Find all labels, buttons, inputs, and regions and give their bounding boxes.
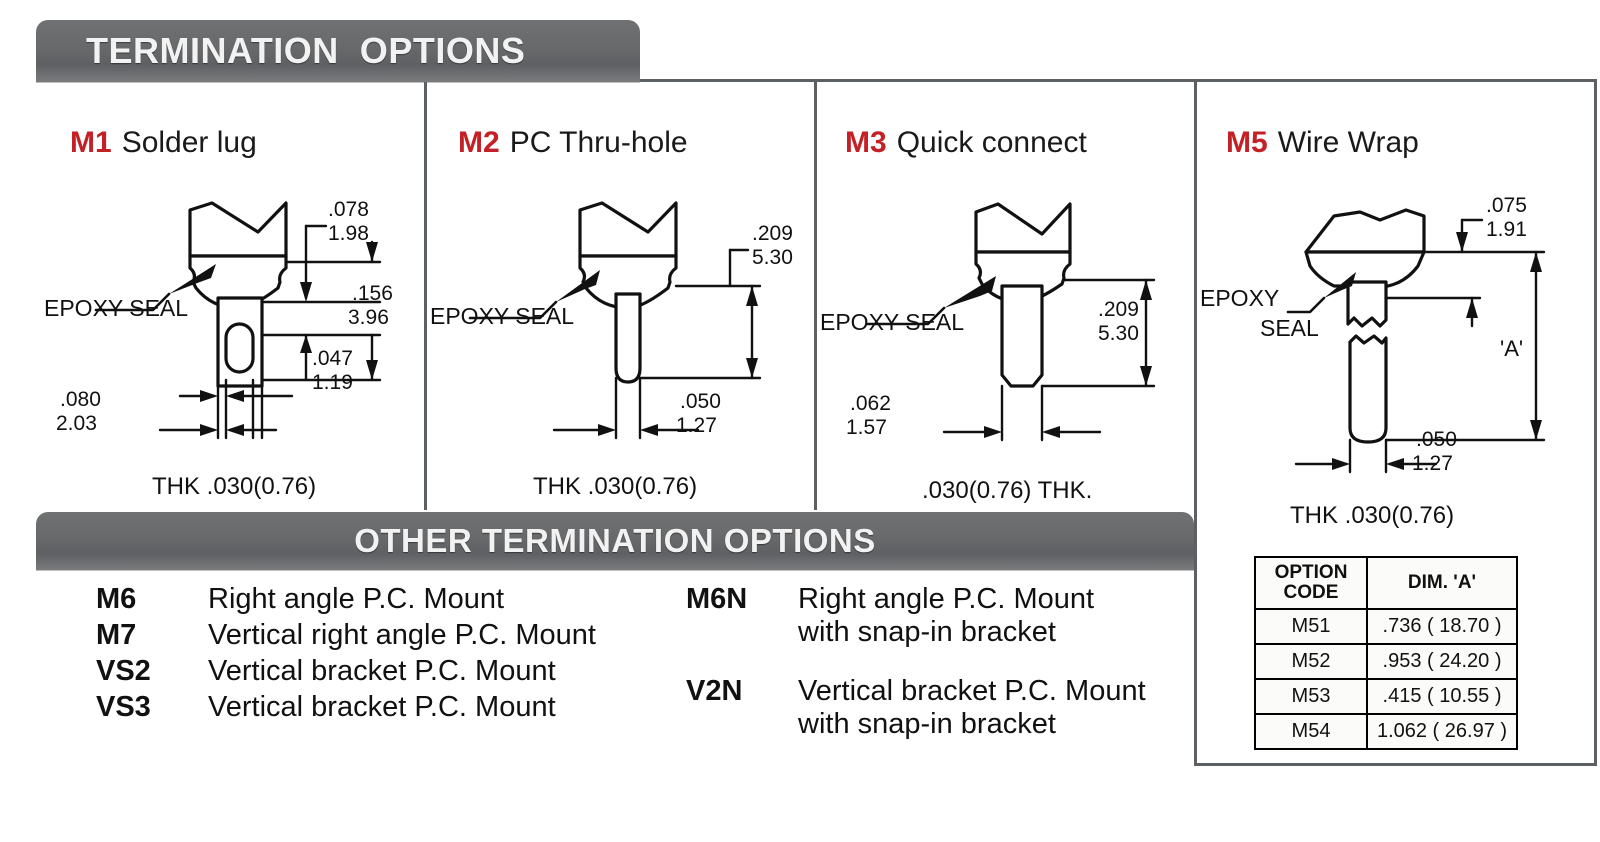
other-option-code: M7 bbox=[96, 619, 208, 652]
m1-horizontal-arrows bbox=[200, 390, 244, 436]
divider-m1-m2 bbox=[424, 82, 427, 510]
other-option-desc-line2: with snap-in bracket bbox=[798, 616, 1094, 649]
m5-thickness-note: THK .030(0.76) bbox=[1290, 502, 1454, 530]
cell-option-code: M52 bbox=[1255, 644, 1367, 679]
other-option-desc: Vertical right angle P.C. Mount bbox=[208, 619, 596, 652]
termination-options-title: TERMINATION OPTIONS bbox=[36, 30, 525, 72]
m1-dim-078-inch: .078 bbox=[328, 198, 369, 221]
m2-dim-530-mm: 5.30 bbox=[752, 246, 793, 269]
top-rule-right bbox=[640, 79, 1597, 82]
m1-thickness-note: THK .030(0.76) bbox=[152, 473, 316, 501]
drawing-m5-wire-wrap: EPOXY SEAL .075 1.91 'A' bbox=[1200, 190, 1590, 480]
m3-terminal-head bbox=[976, 204, 1070, 252]
other-option-desc: Vertical bracket P.C. Mount bbox=[208, 655, 556, 688]
list-item: M7 Vertical right angle P.C. Mount bbox=[96, 619, 596, 652]
datasheet-page: TERMINATION OPTIONS M1Solder lug M2PC Th… bbox=[0, 0, 1600, 842]
other-options-right-column: M6N Right angle P.C. Mount with snap-in … bbox=[686, 583, 1146, 744]
m5-epoxy-seal-label-line2: SEAL bbox=[1260, 315, 1319, 341]
list-item: M6 Right angle P.C. Mount bbox=[96, 583, 596, 616]
option-code-header-line2: CODE bbox=[1284, 582, 1339, 603]
other-termination-options-banner: OTHER TERMINATION OPTIONS bbox=[36, 512, 1194, 570]
other-option-code: M6 bbox=[96, 583, 208, 616]
cell-dim-a-value: .953 ( 24.20 ) bbox=[1367, 644, 1517, 679]
m5-dim-191-mm: 1.91 bbox=[1486, 218, 1527, 241]
m5-pin-lower bbox=[1350, 336, 1386, 442]
option-desc-m1: Solder lug bbox=[122, 126, 257, 159]
option-code-m3: M3 bbox=[845, 126, 887, 159]
other-option-code: M6N bbox=[686, 583, 798, 616]
other-option-desc-line1: Vertical bracket P.C. Mount bbox=[798, 675, 1146, 707]
option-code-header-line1: OPTION bbox=[1275, 562, 1348, 583]
m5-dim-075-inch: .075 bbox=[1486, 194, 1527, 217]
m1-lug-hole bbox=[226, 324, 253, 372]
m1-dim-119-mm: 1.19 bbox=[312, 371, 353, 394]
option-code-m5: M5 bbox=[1226, 126, 1268, 159]
m1-bottom-extensions bbox=[160, 380, 292, 438]
cell-option-code: M53 bbox=[1255, 679, 1367, 714]
m2-terminal-head bbox=[580, 203, 676, 256]
m2-dim-209-inch: .209 bbox=[752, 222, 793, 245]
column-heading-m2: M2PC Thru-hole bbox=[458, 126, 688, 160]
m3-epoxy-seal-label: EPOXY SEAL bbox=[820, 309, 964, 335]
other-option-code: V2N bbox=[686, 675, 798, 708]
drawing-m2-pc-thru-hole: EPOXY SEAL .209 5.30 bbox=[430, 190, 810, 450]
termination-options-banner: TERMINATION OPTIONS bbox=[36, 20, 640, 82]
m1-dim-080-inch: .080 bbox=[60, 388, 101, 411]
m5-pin-upper bbox=[1348, 282, 1386, 326]
other-termination-options-title: OTHER TERMINATION OPTIONS bbox=[36, 522, 1194, 560]
option-desc-m5: Wire Wrap bbox=[1278, 126, 1419, 159]
m3-dim-530-mm: 5.30 bbox=[1098, 322, 1139, 345]
table-row: M51 .736 ( 18.70 ) bbox=[1255, 609, 1517, 644]
m3-dim-157-mm: 1.57 bbox=[846, 416, 887, 439]
other-option-desc: Vertical bracket P.C. Mount bbox=[208, 691, 556, 724]
option-desc-m2: PC Thru-hole bbox=[510, 126, 688, 159]
m2-dim-050-inch: .050 bbox=[680, 390, 721, 413]
cell-dim-a-value: .736 ( 18.70 ) bbox=[1367, 609, 1517, 644]
drawing-m3-quick-connect: EPOXY SEAL .209 5.30 .062 bbox=[820, 190, 1195, 455]
table-row: M54 1.062 ( 26.97 ) bbox=[1255, 714, 1517, 749]
m5-dim-050-inch: .050 bbox=[1416, 428, 1457, 451]
other-option-code: VS2 bbox=[96, 655, 208, 688]
m5-panel-bottom-rule bbox=[1194, 763, 1597, 766]
m2-epoxy-seal-label: EPOXY SEAL bbox=[430, 303, 574, 329]
other-option-code: VS3 bbox=[96, 691, 208, 724]
m5-epoxy-seal-label-line1: EPOXY bbox=[1200, 285, 1279, 311]
other-option-desc-line2: with snap-in bracket bbox=[798, 708, 1146, 741]
m1-dim-047-inch: .047 bbox=[312, 347, 353, 370]
m1-dim-156-inch: .156 bbox=[352, 282, 393, 305]
m1-dim-396-mm: 3.96 bbox=[348, 306, 389, 329]
m1-dim-203-mm: 2.03 bbox=[56, 412, 97, 435]
list-item: VS2 Vertical bracket P.C. Mount bbox=[96, 655, 596, 688]
m3-thickness-note: .030(0.76) THK. bbox=[922, 477, 1092, 505]
m2-horizontal-arrows bbox=[598, 424, 658, 436]
cell-option-code: M51 bbox=[1255, 609, 1367, 644]
other-options-left-column: M6 Right angle P.C. Mount M7 Vertical ri… bbox=[96, 583, 596, 727]
option-code-m1: M1 bbox=[70, 126, 112, 159]
m5-dim-a-label: 'A' bbox=[1500, 336, 1523, 361]
cell-dim-a-value: .415 ( 10.55 ) bbox=[1367, 679, 1517, 714]
m2-dim-127-mm: 1.27 bbox=[676, 414, 717, 437]
column-heading-m3: M3Quick connect bbox=[845, 126, 1087, 160]
m2-pin bbox=[616, 294, 640, 382]
table-row: M52 .953 ( 24.20 ) bbox=[1255, 644, 1517, 679]
column-header-dim-a: DIM. 'A' bbox=[1367, 557, 1517, 609]
table-header-row: OPTION CODE DIM. 'A' bbox=[1255, 557, 1517, 609]
drawing-m1-solder-lug: EPOXY SEAL .078 1.98 . bbox=[40, 190, 424, 450]
m5-terminal-head bbox=[1306, 210, 1424, 252]
m3-dim-062-inch: .062 bbox=[850, 392, 891, 415]
m5-horizontal-arrows bbox=[1332, 458, 1404, 470]
m5-dim-127-mm: 1.27 bbox=[1412, 452, 1453, 475]
list-item: VS3 Vertical bracket P.C. Mount bbox=[96, 691, 596, 724]
m3-bottom-extensions bbox=[944, 386, 1100, 440]
other-option-desc-line1: Right angle P.C. Mount bbox=[798, 583, 1094, 615]
cell-option-code: M54 bbox=[1255, 714, 1367, 749]
m5-seal-leader bbox=[1288, 298, 1324, 312]
dim-a-table: OPTION CODE DIM. 'A' M51 .736 ( 18.70 ) … bbox=[1254, 556, 1518, 750]
cell-dim-a-value: 1.062 ( 26.97 ) bbox=[1367, 714, 1517, 749]
table-row: M53 .415 ( 10.55 ) bbox=[1255, 679, 1517, 714]
m5-panel-right-edge bbox=[1594, 82, 1597, 766]
m1-dim-198-mm: 1.98 bbox=[328, 222, 369, 245]
m3-dim-209-inch: .209 bbox=[1098, 298, 1139, 321]
column-heading-m5: M5Wire Wrap bbox=[1226, 126, 1419, 160]
divider-m2-m3 bbox=[814, 82, 817, 510]
m3-horizontal-arrows bbox=[984, 426, 1060, 438]
list-item: M6N Right angle P.C. Mount with snap-in … bbox=[686, 583, 1146, 649]
column-heading-m1: M1Solder lug bbox=[70, 126, 257, 160]
list-item: V2N Vertical bracket P.C. Mount with sna… bbox=[686, 675, 1146, 741]
other-option-desc: Right angle P.C. Mount bbox=[208, 583, 504, 616]
m3-blade bbox=[1002, 286, 1042, 386]
m1-epoxy-seal-label: EPOXY SEAL bbox=[44, 295, 188, 321]
m2-thickness-note: THK .030(0.76) bbox=[533, 473, 697, 501]
m5-vertical-arrows bbox=[1456, 232, 1542, 440]
m1-terminal-head bbox=[190, 203, 286, 256]
column-header-option-code: OPTION CODE bbox=[1255, 557, 1367, 609]
option-code-m2: M2 bbox=[458, 126, 500, 159]
option-desc-m3: Quick connect bbox=[897, 126, 1087, 159]
